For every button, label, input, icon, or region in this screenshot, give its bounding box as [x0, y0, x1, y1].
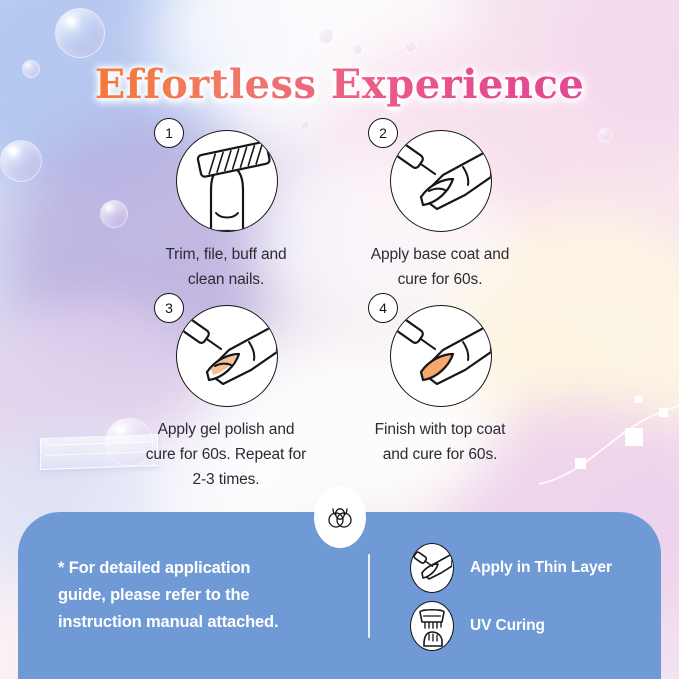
feature-label: UV Curing	[470, 617, 545, 635]
thin-layer-brush-icon	[410, 543, 454, 593]
bubble-decoration	[318, 28, 334, 44]
step-caption-line: 2-3 times.	[86, 467, 366, 492]
vertical-divider	[368, 554, 370, 638]
step-illustration-3: 3	[176, 305, 276, 405]
step-illustration-1: 1	[176, 130, 276, 230]
sparkle-star-icon	[635, 396, 642, 403]
nail-file-icon	[176, 130, 278, 232]
note-line: * For detailed application	[58, 555, 358, 582]
step-caption-line: cure for 60s.	[300, 267, 580, 292]
step-number-badge: 3	[154, 293, 184, 323]
brand-logo-badge	[314, 486, 366, 548]
bubble-decoration	[55, 8, 105, 58]
note-line: guide, please refer to the	[58, 582, 358, 609]
note-line: instruction manual attached.	[58, 609, 358, 636]
step-caption-line: Finish with top coat	[300, 417, 580, 442]
feature-item-thin-layer: Apply in Thin Layer	[410, 542, 612, 594]
uv-lamp-icon	[410, 601, 454, 651]
top-coat-brush-icon	[390, 305, 492, 407]
sparkle-star-icon	[659, 408, 668, 417]
step-caption-2: Apply base coat and cure for 60s.	[300, 242, 580, 292]
bow-logo-icon	[325, 502, 355, 532]
step-caption-line: and cure for 60s.	[300, 442, 580, 467]
feature-item-uv-curing: UV Curing	[410, 600, 612, 652]
step-item-4: 4 Finish with top coat and cure for 60s.	[300, 305, 580, 467]
bubble-decoration	[352, 44, 363, 55]
step-illustration-2: 2	[390, 130, 490, 230]
bubble-decoration	[300, 120, 310, 130]
bubble-decoration	[0, 140, 42, 182]
instruction-note: * For detailed application guide, please…	[58, 555, 358, 635]
page-title: Effortless Experience	[0, 61, 679, 108]
infographic-page: Effortless Experience	[0, 0, 679, 679]
sparkle-star-icon	[625, 428, 643, 446]
bubble-decoration	[598, 128, 612, 142]
step-illustration-4: 4	[390, 305, 490, 405]
step-number-badge: 2	[368, 118, 398, 148]
feature-list: Apply in Thin Layer	[410, 542, 612, 658]
feature-label: Apply in Thin Layer	[470, 559, 612, 577]
base-coat-brush-icon	[390, 130, 492, 232]
step-caption-4: Finish with top coat and cure for 60s.	[300, 417, 580, 467]
step-item-2: 2 Apply base coat and cure for 60s.	[300, 130, 580, 292]
bubble-decoration	[404, 40, 417, 53]
step-caption-line: Apply base coat and	[300, 242, 580, 267]
bottom-banner: * For detailed application guide, please…	[18, 512, 661, 679]
step-number-badge: 1	[154, 118, 184, 148]
gel-polish-brush-icon	[176, 305, 278, 407]
step-number-badge: 4	[368, 293, 398, 323]
